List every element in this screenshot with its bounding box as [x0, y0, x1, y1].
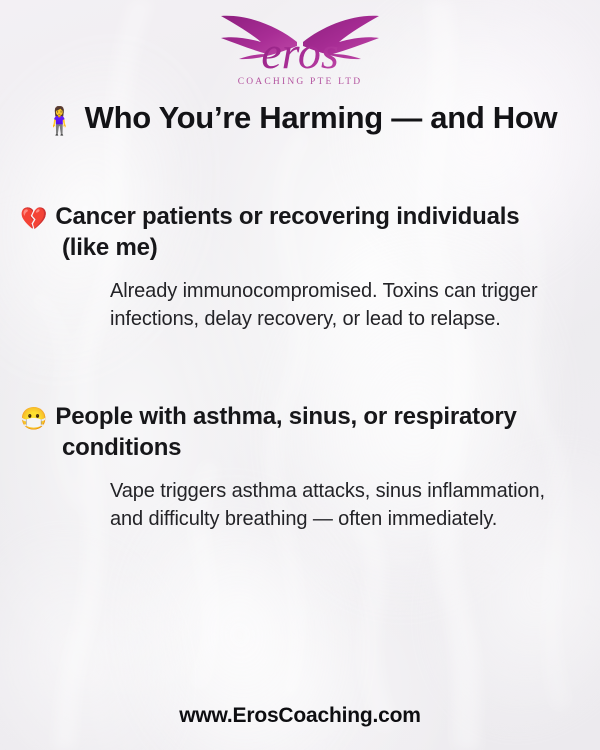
harm-item-2-heading: 😷People with asthma, sinus, or respirato… [0, 402, 600, 464]
broken-heart-icon: 💔 [20, 206, 47, 231]
poster-content: eros COACHING PTE LTD 🧍‍♀️ Who You’re Ha… [0, 0, 600, 750]
poster-canvas: eros COACHING PTE LTD 🧍‍♀️ Who You’re Ha… [0, 0, 600, 750]
harm-item-1-heading-text: Cancer patients or recovering individual… [55, 203, 519, 261]
footer-website[interactable]: www.ErosCoaching.com [0, 704, 600, 728]
page-title-line-1: Who You’re Harming — [85, 100, 422, 135]
page-title: 🧍‍♀️ Who You’re Harming — and How [40, 98, 560, 138]
person-standing-female-icon: 🧍‍♀️ [43, 106, 77, 136]
harm-item-1: 💔Cancer patients or recovering individua… [0, 202, 600, 334]
harm-item-2-body: Vape triggers asthma attacks, sinus infl… [0, 477, 600, 534]
page-title-line-2: and How [430, 100, 557, 135]
logo-wordmark: eros [261, 27, 339, 78]
harm-item-1-heading: 💔Cancer patients or recovering individua… [0, 202, 600, 264]
harm-item-2-heading-text: People with asthma, sinus, or respirator… [55, 403, 516, 461]
logo-tagline: COACHING PTE LTD [238, 77, 363, 87]
brand-logo: eros COACHING PTE LTD [0, 6, 600, 92]
face-with-medical-mask-icon: 😷 [20, 406, 47, 431]
harm-item-1-body: Already immunocompromised. Toxins can tr… [0, 277, 600, 334]
harm-item-2: 😷People with asthma, sinus, or respirato… [0, 402, 600, 534]
